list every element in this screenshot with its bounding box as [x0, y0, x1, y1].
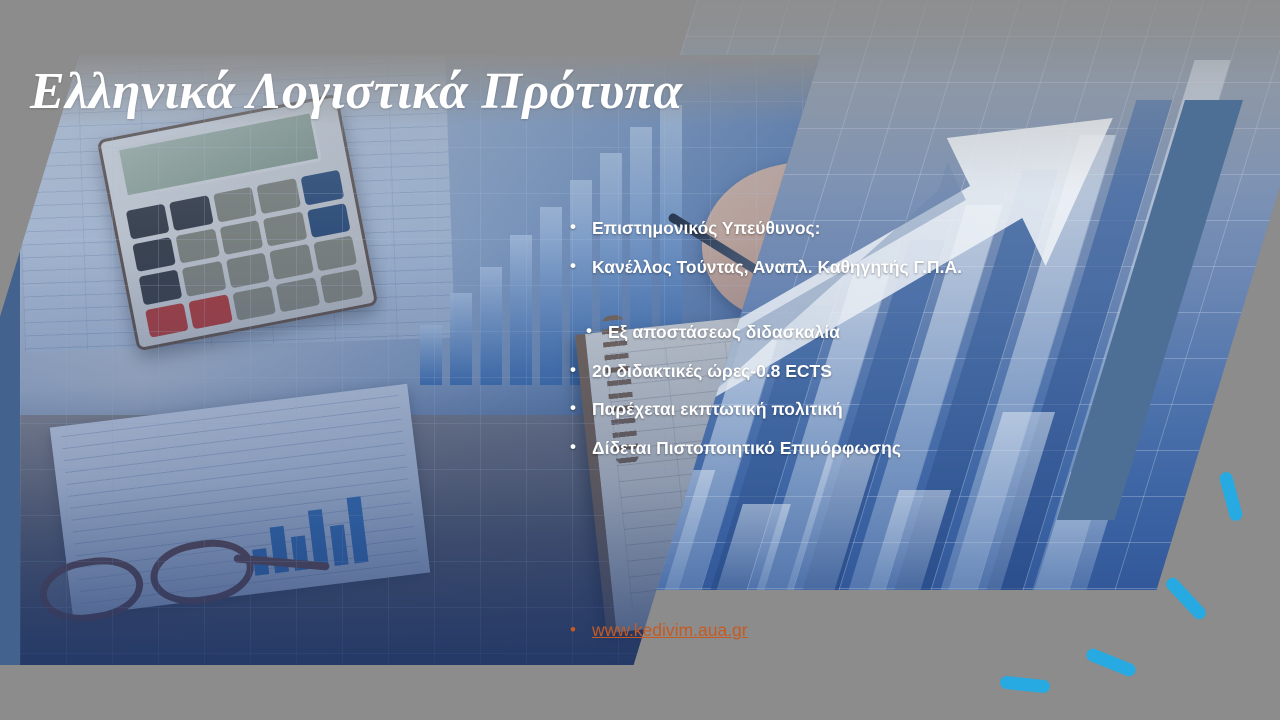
bullet-list: Επιστημονικός Υπεύθυνος: Κανέλλος Τούντα… — [566, 220, 1036, 478]
page-title: Ελληνικά Λογιστικά Πρότυπα — [30, 63, 683, 120]
bullet-text: Επιστημονικός Υπεύθυνος: — [592, 218, 820, 238]
bullet-text: 20 διδακτικές ώρες-0.8 ECTS — [592, 361, 832, 381]
bullet-text: Παρέχεται εκπτωτική πολιτική — [592, 399, 843, 419]
accent-dash-1 — [1218, 471, 1243, 523]
accent-dash-2 — [1164, 575, 1209, 622]
kedivim-website-link[interactable]: www.kedivim.aua.gr — [592, 620, 748, 640]
list-item: 20 διδακτικές ώρες-0.8 ECTS — [566, 363, 1036, 381]
footer-link-list: www.kedivim.aua.gr — [566, 622, 748, 640]
bullet-text: Κανέλλος Τούντας, Αναπλ. Καθηγητής Γ.Π.Α… — [592, 257, 962, 277]
list-item: Κανέλλος Τούντας, Αναπλ. Καθηγητής Γ.Π.Α… — [566, 259, 1036, 277]
slide-canvas: Ελληνικά Λογιστικά Πρότυπα Επιστημονικός… — [0, 0, 1280, 720]
list-item: www.kedivim.aua.gr — [566, 622, 748, 640]
list-item: Δίδεται Πιστοποιητικό Επιμόρφωσης — [566, 440, 1036, 458]
bullet-text: Δίδεται Πιστοποιητικό Επιμόρφωσης — [592, 438, 901, 458]
list-item: Παρέχεται εκπτωτική πολιτική — [566, 401, 1036, 419]
list-item: Επιστημονικός Υπεύθυνος: — [566, 220, 1036, 238]
bullet-text: Εξ αποστάσεως διδασκαλία — [608, 322, 840, 342]
accent-dash-3 — [1084, 647, 1137, 679]
accent-dash-4 — [999, 675, 1050, 693]
list-item: Εξ αποστάσεως διδασκαλία — [566, 324, 1036, 342]
